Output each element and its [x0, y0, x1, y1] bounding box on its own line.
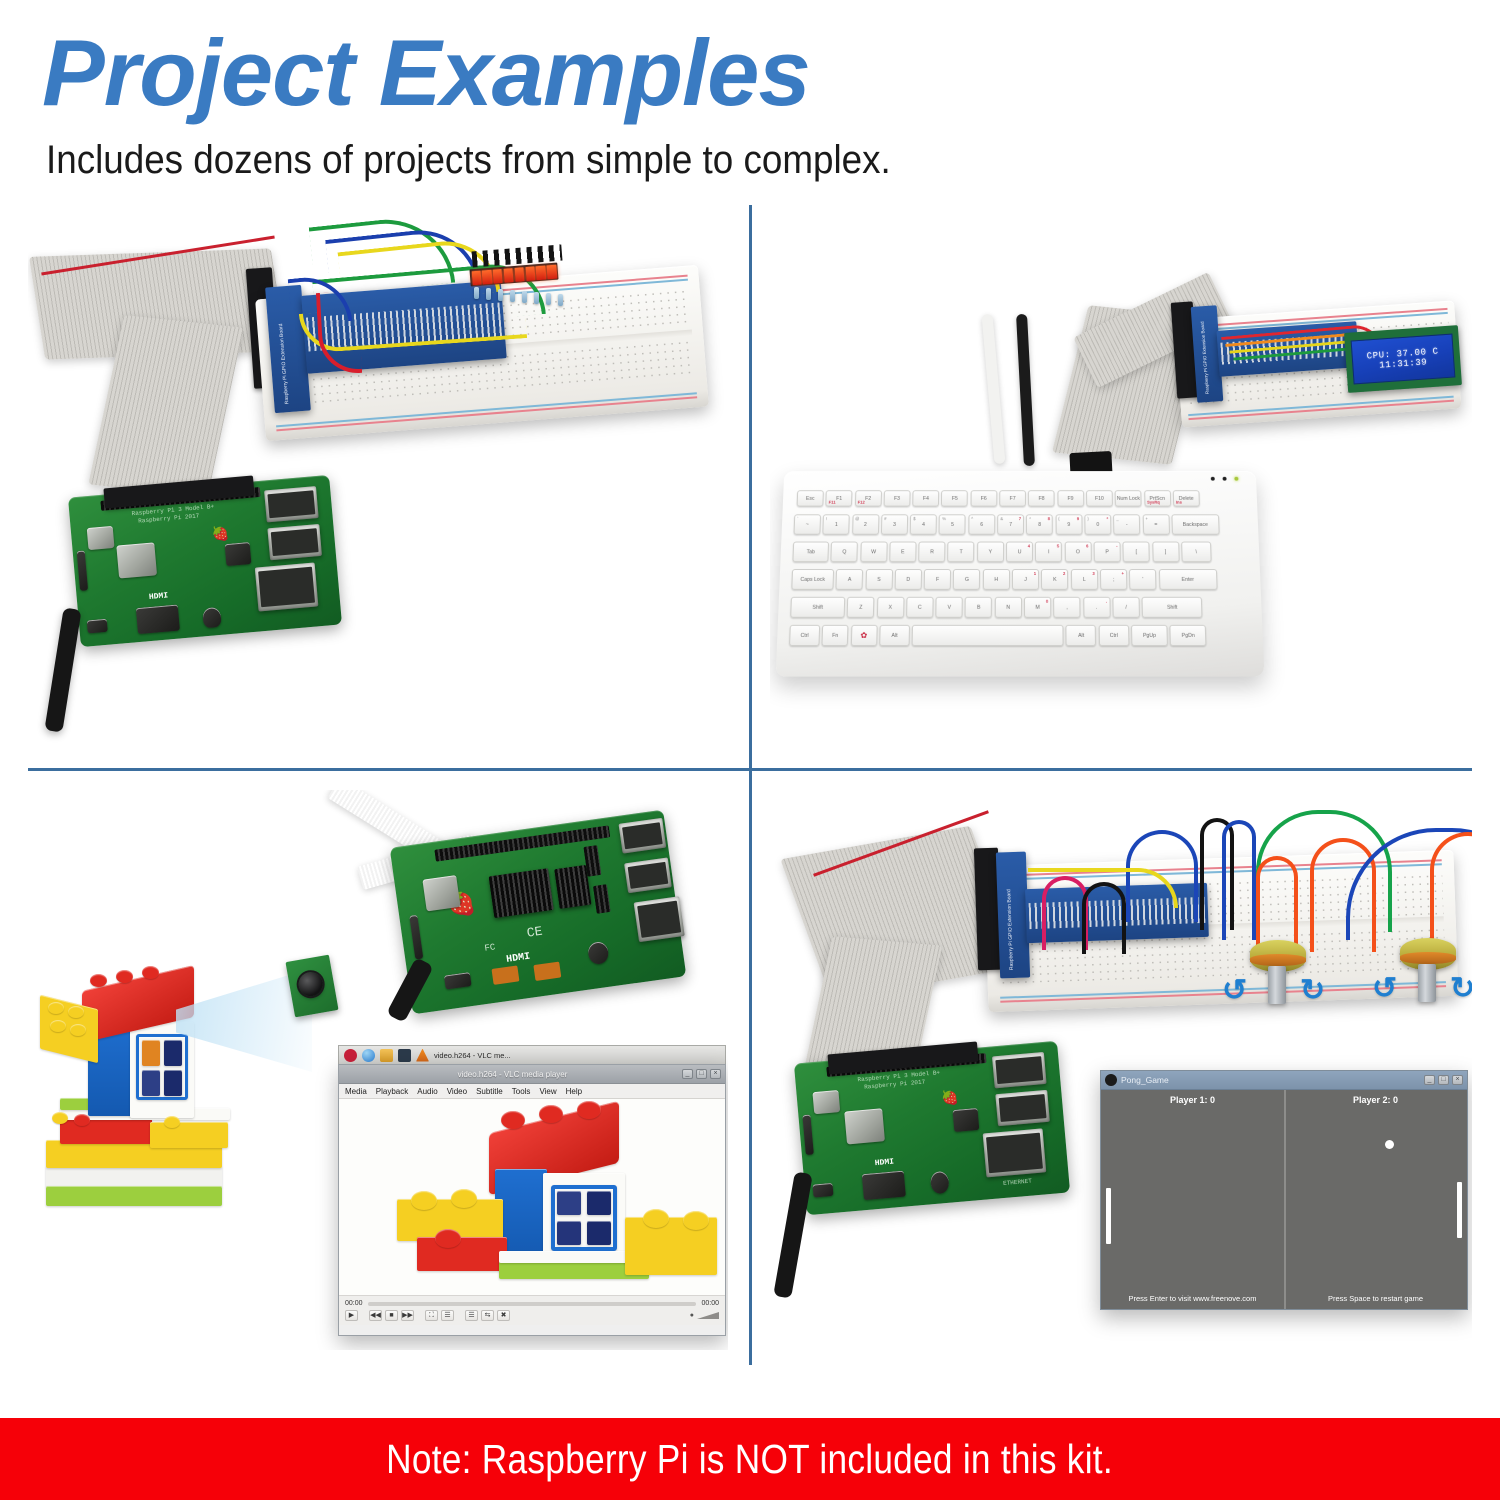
vlc-menu-tools[interactable]: Tools: [512, 1087, 531, 1096]
lego-window-pane: [557, 1221, 581, 1245]
key-label: F2: [865, 496, 871, 502]
page-subtitle: Includes dozens of projects from simple …: [46, 138, 891, 183]
key-label: F: [936, 576, 939, 582]
rotation-arrow-left-icon: ↺: [1222, 976, 1247, 1006]
key-label: 4: [922, 522, 925, 528]
key-label: \: [1195, 549, 1197, 555]
key-label: /: [1125, 604, 1127, 610]
key-r[interactable]: R: [918, 542, 945, 563]
key-numpad-label: 5: [1057, 544, 1059, 549]
key-u[interactable]: 4U: [1006, 542, 1033, 563]
key-alt-label: ^: [971, 516, 973, 521]
hdmi-port: [136, 605, 180, 635]
key-label: F8: [1039, 496, 1045, 502]
key-label: F1: [836, 496, 842, 502]
key-prtscn[interactable]: SysRqPrtScn: [1144, 490, 1171, 506]
key-label: M: [1035, 604, 1039, 610]
potentiometer-ring: [1400, 952, 1456, 964]
gpio-extension-board-label: Raspberry Pi GPIO Extension Board: [1006, 889, 1015, 970]
ethernet-label: ETHERNET: [1003, 1178, 1032, 1187]
ethernet-port: [983, 1128, 1047, 1177]
key-tab[interactable]: Tab: [792, 542, 829, 563]
key-g[interactable]: G: [953, 569, 980, 590]
key-label: 6: [980, 522, 983, 528]
key-caps-lock[interactable]: Caps Lock: [791, 569, 834, 590]
key-v[interactable]: V: [936, 597, 963, 618]
key-n[interactable]: N: [995, 597, 1022, 618]
vlc-seek-row[interactable]: 00:00 00:00: [339, 1296, 725, 1309]
usb-port-pair-bottom: [995, 1090, 1050, 1126]
player1-paddle[interactable]: [1106, 1188, 1111, 1244]
keyboard-function-row[interactable]: EscF11F1F12F2F3F4F5F6F7F8F9F10Num LockSy…: [797, 490, 1200, 506]
key-numpad-label: 1: [1034, 571, 1036, 576]
ethernet-port: [255, 562, 319, 611]
key-label: F3: [894, 496, 900, 502]
pong-game-window[interactable]: Pong_Game _ □ × Player 1: 0 Player 2: 0 …: [1100, 1070, 1468, 1310]
key-f7[interactable]: F7: [999, 490, 1026, 506]
hdmi-silk-label: HDMI: [506, 952, 531, 966]
key-label: 9: [1067, 522, 1070, 528]
aux-header-1: [583, 845, 601, 877]
lego-stud: [70, 1024, 86, 1036]
key--[interactable]: +;: [1100, 569, 1127, 590]
key-m[interactable]: 0M: [1024, 597, 1051, 618]
key-label: O: [1076, 549, 1080, 555]
key-pgup[interactable]: PgUp: [1131, 625, 1168, 646]
micro-usb-power-port: [812, 1183, 833, 1198]
key-label: E: [901, 549, 905, 555]
key-alt-label: +: [1145, 516, 1148, 521]
key-w[interactable]: W: [860, 542, 887, 563]
keyboard-q-row[interactable]: TabQWERTY4U5I6O-P[]\: [792, 542, 1211, 563]
key-label: Esc: [806, 496, 815, 502]
raspberry-logo-icon: 🍓: [941, 1090, 960, 1105]
jumper-wire-blue-arch-2: [1222, 820, 1256, 940]
usb-ethernet-controller-chip: [225, 542, 252, 566]
vlc-controls[interactable]: 00:00 00:00 ▶ ◀◀ ■ ▶▶ ⛶ ☰ ☰: [339, 1295, 725, 1325]
lego-stud: [451, 1189, 477, 1208]
playlist-button[interactable]: ☰: [465, 1310, 478, 1321]
key-c[interactable]: C: [906, 597, 934, 618]
key-label: Caps Lock: [800, 576, 825, 582]
player2-paddle[interactable]: [1457, 1182, 1462, 1238]
soc-heatsink: [489, 868, 554, 918]
key-label: Alt: [1078, 632, 1084, 638]
key-numpad-label: +: [1121, 571, 1124, 576]
key-ctrl[interactable]: Ctrl: [1099, 625, 1130, 646]
jumper-wire-black-left: [1082, 882, 1126, 954]
key-label: Tab: [806, 549, 815, 555]
key-label: Ctrl: [1110, 632, 1118, 638]
key-f1[interactable]: F11F1: [826, 490, 853, 506]
potentiometer-2-shaft[interactable]: [1418, 964, 1436, 1002]
key-o[interactable]: 6O: [1064, 542, 1091, 563]
key-l[interactable]: 3L: [1071, 569, 1098, 590]
lego-brick-yellow-right: [150, 1122, 228, 1148]
lego-stud: [683, 1211, 709, 1230]
vlc-menu-help[interactable]: Help: [566, 1087, 582, 1096]
key-enter[interactable]: Enter: [1158, 569, 1217, 590]
lego-stud: [90, 974, 107, 987]
key-numpad-label: *: [1106, 516, 1108, 521]
terminal-icon[interactable]: [398, 1049, 411, 1062]
pong-hint-left: Press Enter to visit www.freenove.com: [1101, 1294, 1284, 1303]
key-numpad-label: .: [1106, 599, 1107, 604]
key-label: H: [994, 576, 998, 582]
loop-button[interactable]: ⇆: [481, 1310, 494, 1321]
vlc-cone-icon[interactable]: [416, 1049, 429, 1062]
key-esc[interactable]: Esc: [797, 490, 824, 506]
key-label: 0: [1096, 522, 1099, 528]
audio-jack: [202, 607, 222, 628]
key-label: Ctrl: [800, 632, 808, 638]
key--[interactable]: +=: [1142, 514, 1169, 534]
key-fn-label: SysRq: [1147, 500, 1160, 505]
vlc-button-row[interactable]: ▶ ◀◀ ■ ▶▶ ⛶ ☰ ☰ ⇆ ✖ ●: [339, 1309, 725, 1325]
key-label: X: [888, 604, 892, 610]
lcd-line-clock: 11:31:39: [1379, 357, 1428, 370]
vlc-menubar[interactable]: MediaPlaybackAudioVideoSubtitleToolsView…: [339, 1084, 725, 1099]
key-numpad-label: 9: [1077, 516, 1079, 521]
resistor: [546, 293, 551, 305]
vlc-seek-bar[interactable]: [368, 1302, 697, 1306]
key-fn[interactable]: Fn: [822, 625, 849, 646]
volume-slider[interactable]: [697, 1312, 719, 1319]
key-label: Shift: [812, 604, 823, 610]
stop-button[interactable]: ■: [385, 1310, 398, 1321]
key-blank[interactable]: [912, 625, 1064, 646]
key-i[interactable]: 5I: [1035, 542, 1062, 563]
key--[interactable]: ]: [1152, 542, 1179, 563]
taskbar-window-title[interactable]: video.h264 - VLC me...: [434, 1051, 511, 1060]
project-examples-poster: Project Examples Includes dozens of proj…: [0, 0, 1500, 1500]
key-label: J: [1024, 576, 1027, 582]
maximize-button[interactable]: □: [1438, 1075, 1449, 1085]
key-label: 5: [951, 522, 954, 528]
key--[interactable]: _-: [1113, 514, 1140, 534]
quadrant-camera-video: 🍓 camera-video-project CE FC HDMI: [28, 790, 728, 1350]
key-label: R: [930, 549, 934, 555]
pong-window-controls[interactable]: _ □ ×: [1424, 1075, 1463, 1085]
lego-stud: [539, 1105, 563, 1123]
key-f9[interactable]: F9: [1057, 490, 1084, 506]
lego-stud: [501, 1111, 525, 1129]
key-e[interactable]: E: [889, 542, 916, 563]
minimize-button[interactable]: _: [682, 1069, 693, 1079]
key-label: 7: [1009, 522, 1012, 528]
close-button[interactable]: ×: [710, 1069, 721, 1079]
key-label: Backspace: [1183, 522, 1208, 528]
page-title: Project Examples: [42, 24, 810, 123]
extended-settings-button[interactable]: ☰: [441, 1310, 454, 1321]
power-cable: [773, 1171, 813, 1298]
vlc-menu-subtitle[interactable]: Subtitle: [476, 1087, 503, 1096]
pong-ball: [1385, 1140, 1394, 1149]
volume-control[interactable]: ●: [690, 1312, 719, 1319]
fcc-mark: FC: [484, 942, 496, 953]
browser-icon[interactable]: [362, 1049, 375, 1062]
key-label: [: [1136, 549, 1138, 555]
key-alt-label: %: [942, 516, 946, 521]
key-numpad-label: 4: [1028, 544, 1030, 549]
ram-chip: [422, 875, 460, 911]
key-alt[interactable]: Alt: [1066, 625, 1097, 646]
keyboard-number-row[interactable]: `~!1@2#3$4%5^6&77*88(99)*0_-+=Backspace: [793, 514, 1219, 534]
key--[interactable]: `~: [793, 514, 821, 534]
minimize-button[interactable]: _: [1424, 1075, 1435, 1085]
lego-brick-red: [417, 1237, 507, 1271]
resistor: [498, 289, 503, 301]
quadrant-pong-game: Raspberry Pi GPIO Extension Board ↺ ↻ ↺ …: [770, 790, 1472, 1350]
key-pgdn[interactable]: PgDn: [1170, 625, 1207, 646]
lcd1602-screen: CPU: 37.00 C 11:31:39: [1351, 333, 1456, 384]
quadrant-led-bar-graph: Raspberry Pi GPIO Extension Board: [28, 210, 728, 755]
camera-csi-connector: [802, 1115, 813, 1156]
key-label: =: [1154, 522, 1157, 528]
key-alt-label: `: [797, 516, 799, 521]
key-delete[interactable]: InsDelete: [1173, 490, 1200, 506]
key-pi[interactable]: ✿: [850, 625, 877, 646]
key-1[interactable]: !1: [823, 514, 850, 534]
key-label: W: [871, 549, 876, 555]
vlc-menu-media[interactable]: Media: [345, 1087, 367, 1096]
lcd1602-module: CPU: 37.00 C 11:31:39: [1344, 325, 1462, 393]
key-f6[interactable]: F6: [970, 490, 997, 506]
pong-play-field[interactable]: Player 1: 0 Player 2: 0 Press Enter to v…: [1101, 1090, 1467, 1309]
key-label: T: [960, 549, 963, 555]
usb3-port-pair: [619, 818, 667, 854]
vlc-menu-audio[interactable]: Audio: [417, 1087, 437, 1096]
hdmi-port: [862, 1171, 906, 1201]
key--[interactable]: ,: [1054, 597, 1081, 618]
raspberry-logo-icon: 🍓: [211, 526, 230, 541]
led-segment: [525, 266, 535, 281]
lego-stud: [411, 1191, 437, 1210]
key-s[interactable]: S: [865, 569, 893, 590]
key-d[interactable]: D: [894, 569, 921, 590]
pong-window-title: Pong_Game: [1121, 1075, 1424, 1085]
lego-window-pane: [557, 1191, 581, 1215]
vlc-titlebar[interactable]: video.h264 - VLC media player _ □ ×: [339, 1065, 725, 1084]
key-4[interactable]: $4: [910, 514, 937, 534]
usb-keyboard[interactable]: EscF11F1F12F2F3F4F5F6F7F8F9F10Num LockSy…: [776, 471, 1265, 677]
led-segment: [503, 268, 513, 283]
key-shift[interactable]: Shift: [790, 597, 845, 618]
key-label: ': [1142, 576, 1143, 582]
key-fn-label: F11: [829, 500, 836, 505]
usb-cable-black: [1016, 314, 1035, 466]
key-p[interactable]: -P: [1094, 542, 1121, 563]
key-7[interactable]: &77: [997, 514, 1024, 534]
mute-icon[interactable]: ●: [690, 1312, 694, 1319]
key-label: F7: [1010, 496, 1016, 502]
key-label: U: [1018, 549, 1022, 555]
key-numpad-label: 3: [1092, 571, 1094, 576]
micro-usb-power-port: [87, 619, 108, 634]
soc-chip: [116, 542, 157, 578]
hdmi-label: HDMI: [149, 591, 169, 602]
key-label: I: [1048, 549, 1049, 555]
key-z[interactable]: Z: [847, 597, 875, 618]
key--[interactable]: [: [1123, 542, 1150, 563]
numlock-led-icon: [1211, 477, 1215, 481]
potentiometer-1-shaft[interactable]: [1268, 966, 1286, 1004]
key-f8[interactable]: F8: [1028, 490, 1055, 506]
key-3[interactable]: #3: [881, 514, 908, 534]
lego-stud: [74, 1114, 90, 1126]
key--[interactable]: ': [1129, 569, 1156, 590]
key-0[interactable]: )*0: [1084, 514, 1111, 534]
maximize-button[interactable]: □: [696, 1069, 707, 1079]
key-alt-label: !: [826, 516, 827, 521]
key-label: Num Lock: [1117, 496, 1140, 502]
key-label: S: [877, 576, 881, 582]
key-alt-label: (: [1058, 516, 1059, 521]
led-segment: [547, 264, 557, 279]
file-manager-icon[interactable]: [380, 1049, 393, 1062]
key-label: ]: [1165, 549, 1167, 555]
usb-ethernet-controller-chip: [953, 1108, 980, 1132]
vlc-media-player-window[interactable]: video.h264 - VLC media player _ □ × Medi…: [338, 1064, 726, 1336]
key-a[interactable]: A: [836, 569, 864, 590]
camera-csi-connector: [409, 915, 423, 960]
player1-score: Player 1: 0: [1101, 1095, 1284, 1105]
key-label: L: [1083, 576, 1086, 582]
keyboard-a-row[interactable]: Caps LockASDFGH1J2K3L+;'Enter: [791, 569, 1217, 590]
key-f10[interactable]: F10: [1086, 490, 1113, 506]
key--[interactable]: /: [1112, 597, 1140, 618]
key-label: ✿: [860, 631, 867, 640]
resistor: [474, 287, 479, 299]
key-y[interactable]: Y: [977, 542, 1004, 563]
keyboard-bottom-row[interactable]: CtrlFn✿AltAltCtrlPgUpPgDn: [789, 625, 1207, 646]
key-alt[interactable]: Alt: [879, 625, 910, 646]
key-backspace[interactable]: Backspace: [1171, 514, 1219, 534]
ethernet-port: [634, 896, 685, 942]
key-label: F5: [952, 496, 958, 502]
lego-brick-white-base: [46, 1166, 222, 1188]
key-label: Shift: [1167, 604, 1178, 610]
key-label: B: [977, 604, 981, 610]
key-t[interactable]: T: [948, 542, 975, 563]
lego-stud: [48, 1002, 64, 1014]
quadrant-lcd1602: Raspberry Pi GPIO Extension Board CPU: 3…: [770, 210, 1472, 755]
keyboard-z-row[interactable]: ShiftZXCVBN0M,../Shift: [790, 597, 1203, 618]
led-segment: [514, 267, 524, 282]
key-label: ;: [1113, 576, 1115, 582]
key-numpad-label: 2: [1063, 571, 1065, 576]
key-k[interactable]: 2K: [1041, 569, 1068, 590]
key-f5[interactable]: F5: [941, 490, 968, 506]
key-q[interactable]: Q: [831, 542, 859, 563]
lego-stud: [643, 1209, 669, 1228]
previous-button[interactable]: ◀◀: [369, 1310, 382, 1321]
camera-lens-icon: [297, 970, 325, 998]
lego-stud: [116, 970, 133, 983]
key-numpad-label: 8: [1048, 516, 1050, 521]
vlc-video-canvas: [339, 1099, 725, 1295]
play-button[interactable]: ▶: [345, 1310, 358, 1321]
key-alt-label: *: [1029, 516, 1031, 521]
pong-titlebar[interactable]: Pong_Game _ □ ×: [1101, 1071, 1467, 1090]
key-alt-label: #: [884, 516, 886, 521]
pong-center-line: [1284, 1090, 1286, 1309]
usb-port-pair-bottom: [267, 524, 322, 560]
potentiometer-ring: [1250, 954, 1306, 966]
vlc-menu-view[interactable]: View: [539, 1087, 556, 1096]
random-button[interactable]: ✖: [497, 1310, 510, 1321]
key-label: 2: [864, 522, 867, 528]
key-shift[interactable]: Shift: [1142, 597, 1203, 618]
key-label: ~: [806, 522, 809, 528]
vlc-menu-video[interactable]: Video: [447, 1087, 467, 1096]
wifi-shield: [87, 526, 115, 550]
horizontal-divider: [28, 768, 1472, 771]
key-8[interactable]: *88: [1026, 514, 1053, 534]
key--[interactable]: ..: [1083, 597, 1110, 618]
key-h[interactable]: H: [983, 569, 1010, 590]
gpio-extension-board-label: Raspberry Pi GPIO Extension Board: [278, 323, 290, 404]
key-2[interactable]: @2: [852, 514, 879, 534]
desktop-taskbar[interactable]: video.h264 - VLC me...: [338, 1045, 726, 1065]
key-num-lock[interactable]: Num Lock: [1115, 490, 1142, 506]
key-f3[interactable]: F3: [883, 490, 910, 506]
resistor: [486, 288, 491, 300]
key-f4[interactable]: F4: [912, 490, 939, 506]
raspberry-menu-icon[interactable]: [344, 1049, 357, 1062]
key-b[interactable]: B: [965, 597, 992, 618]
led-segment: [493, 268, 503, 283]
key-alt-label: ): [1087, 516, 1088, 521]
key-label: G: [965, 576, 969, 582]
key-label: PgDn: [1182, 632, 1195, 638]
vlc-window-controls[interactable]: _ □ ×: [682, 1069, 721, 1079]
hdmi-label: HDMI: [874, 1157, 894, 1168]
key-alt-label: &: [1000, 516, 1003, 521]
key-j[interactable]: 1J: [1012, 569, 1039, 590]
key-numpad-label: 6: [1086, 544, 1088, 549]
key-ctrl[interactable]: Ctrl: [789, 625, 820, 646]
video-frame-lego-house: [339, 1099, 725, 1295]
key-5[interactable]: %5: [939, 514, 966, 534]
key-label: Z: [859, 604, 862, 610]
key-f2[interactable]: F12F2: [855, 490, 882, 506]
resistor: [558, 294, 563, 306]
key-9[interactable]: (99: [1055, 514, 1082, 534]
key-numpad-label: -: [1116, 544, 1117, 549]
key-x[interactable]: X: [876, 597, 904, 618]
key-alt-label: @: [855, 516, 859, 521]
fullscreen-button[interactable]: ⛶: [425, 1310, 438, 1321]
usb-cable-white: [981, 314, 1005, 464]
lego-brick-green-base: [46, 1186, 222, 1206]
resistor: [534, 292, 539, 304]
key-label: -: [1126, 522, 1128, 528]
key--[interactable]: \: [1181, 542, 1212, 563]
next-button[interactable]: ▶▶: [401, 1310, 414, 1321]
key-label: PgUp: [1143, 632, 1156, 638]
close-button[interactable]: ×: [1452, 1075, 1463, 1085]
key-label: 3: [893, 522, 896, 528]
vertical-divider: [749, 205, 752, 1365]
note-banner-text: Note: Raspberry Pi is NOT included in th…: [387, 1436, 1114, 1483]
power-led-icon: [1234, 477, 1238, 481]
vlc-menu-playback[interactable]: Playback: [376, 1087, 408, 1096]
player2-score: Player 2: 0: [1284, 1095, 1467, 1105]
key-label: C: [918, 604, 922, 610]
key-f[interactable]: F: [924, 569, 951, 590]
key-6[interactable]: ^6: [968, 514, 995, 534]
